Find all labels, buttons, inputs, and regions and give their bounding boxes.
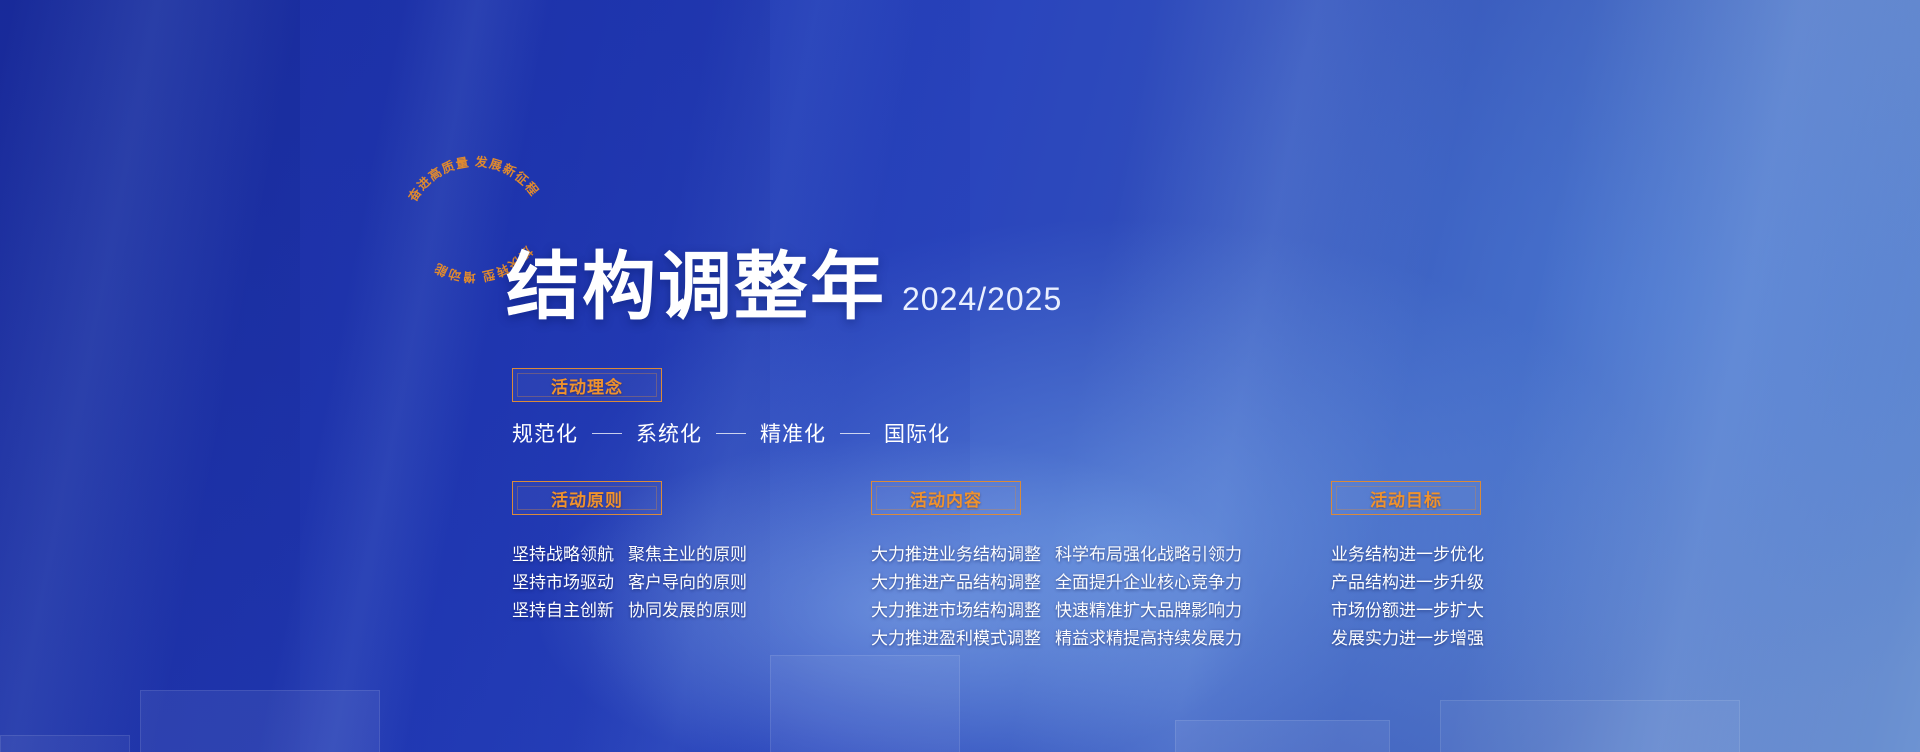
list-item-primary: 大力推进盈利模式调整 (871, 625, 1041, 653)
goals-rows: 业务结构进一步优化产品结构进一步升级市场份额进一步扩大发展实力进一步增强 (1331, 541, 1484, 653)
list-item: 业务结构进一步优化 (1331, 541, 1484, 569)
list-item: 大力推进业务结构调整科学布局强化战略引领力 (871, 541, 1242, 569)
list-item-primary: 大力推进市场结构调整 (871, 597, 1041, 625)
bg-block-4 (1440, 700, 1740, 752)
list-item-secondary: 客户导向的原则 (628, 569, 747, 597)
badge-principles-label: 活动原则 (551, 486, 623, 511)
bg-block-3 (1175, 720, 1390, 752)
badge-concept: 活动理念 (512, 368, 662, 402)
list-item-secondary: 协同发展的原则 (628, 597, 747, 625)
list-item-primary: 产品结构进一步升级 (1331, 569, 1484, 597)
title-row: 结构调整年 2024/2025 (506, 250, 1062, 324)
list-item-primary: 市场份额进一步扩大 (1331, 597, 1484, 625)
section-column-principles: 活动原则 坚持战略领航聚焦主业的原则坚持市场驱动客户导向的原则坚持自主创新协同发… (512, 481, 747, 625)
list-item-secondary: 全面提升企业核心竞争力 (1055, 569, 1242, 597)
list-item-secondary: 精益求精提高持续发展力 (1055, 625, 1242, 653)
list-item: 大力推进盈利模式调整精益求精提高持续发展力 (871, 625, 1242, 653)
concept-badge-wrap: 活动理念 (512, 368, 662, 402)
badge-goals: 活动目标 (1331, 481, 1481, 515)
list-item-primary: 坚持自主创新 (512, 597, 614, 625)
bg-band-1 (0, 0, 300, 752)
list-item-primary: 大力推进业务结构调整 (871, 541, 1041, 569)
bg-light-sweep-5 (1418, 0, 1920, 752)
content-rows: 大力推进业务结构调整科学布局强化战略引领力大力推进产品结构调整全面提升企业核心竞… (871, 541, 1242, 653)
bg-block-5 (0, 735, 130, 752)
section-column-goals: 活动目标 业务结构进一步优化产品结构进一步升级市场份额进一步扩大发展实力进一步增… (1331, 481, 1484, 653)
list-item-primary: 发展实力进一步增强 (1331, 625, 1484, 653)
bg-block-1 (140, 690, 380, 752)
list-item: 产品结构进一步升级 (1331, 569, 1484, 597)
list-item: 坚持自主创新协同发展的原则 (512, 597, 747, 625)
list-item: 坚持市场驱动客户导向的原则 (512, 569, 747, 597)
list-item: 大力推进市场结构调整快速精准扩大品牌影响力 (871, 597, 1242, 625)
list-item-secondary: 快速精准扩大品牌影响力 (1055, 597, 1242, 625)
list-item-secondary: 聚焦主业的原则 (628, 541, 747, 569)
list-item: 发展实力进一步增强 (1331, 625, 1484, 653)
ring-text-top-path: 奋进高质量 发展新征程 (404, 154, 542, 205)
list-item-secondary: 科学布局强化战略引领力 (1055, 541, 1242, 569)
concept-item: 规范化 (512, 418, 578, 448)
concept-item: 系统化 (636, 418, 702, 448)
badge-concept-label: 活动理念 (551, 373, 623, 398)
list-item-primary: 坚持战略领航 (512, 541, 614, 569)
bg-light-sweep-1 (0, 0, 332, 752)
concept-item: 精准化 (760, 418, 826, 448)
list-item: 大力推进产品结构调整全面提升企业核心竞争力 (871, 569, 1242, 597)
badge-content: 活动内容 (871, 481, 1021, 515)
concept-items-line: 规范化系统化精准化国际化 (512, 418, 950, 448)
concept-separator (840, 433, 870, 434)
badge-goals-label: 活动目标 (1370, 486, 1442, 511)
bg-block-2 (770, 655, 960, 752)
year-label: 2024/2025 (902, 281, 1062, 324)
page-title: 结构调整年 (506, 250, 886, 324)
ring-text-top: 奋进高质量 发展新征程 (404, 154, 542, 205)
concept-separator (592, 433, 622, 434)
list-item-primary: 坚持市场驱动 (512, 569, 614, 597)
banner-root: 奋进高质量 发展新征程 加快转型 增动能 结构调整年 2024/2025 活动理… (0, 0, 1920, 752)
list-item: 市场份额进一步扩大 (1331, 597, 1484, 625)
list-item-primary: 业务结构进一步优化 (1331, 541, 1484, 569)
principles-rows: 坚持战略领航聚焦主业的原则坚持市场驱动客户导向的原则坚持自主创新协同发展的原则 (512, 541, 747, 625)
concept-item: 国际化 (884, 418, 950, 448)
badge-principles: 活动原则 (512, 481, 662, 515)
list-item-primary: 大力推进产品结构调整 (871, 569, 1041, 597)
badge-content-label: 活动内容 (910, 486, 982, 511)
concept-separator (716, 433, 746, 434)
section-column-content: 活动内容 大力推进业务结构调整科学布局强化战略引领力大力推进产品结构调整全面提升… (871, 481, 1242, 653)
list-item: 坚持战略领航聚焦主业的原则 (512, 541, 747, 569)
